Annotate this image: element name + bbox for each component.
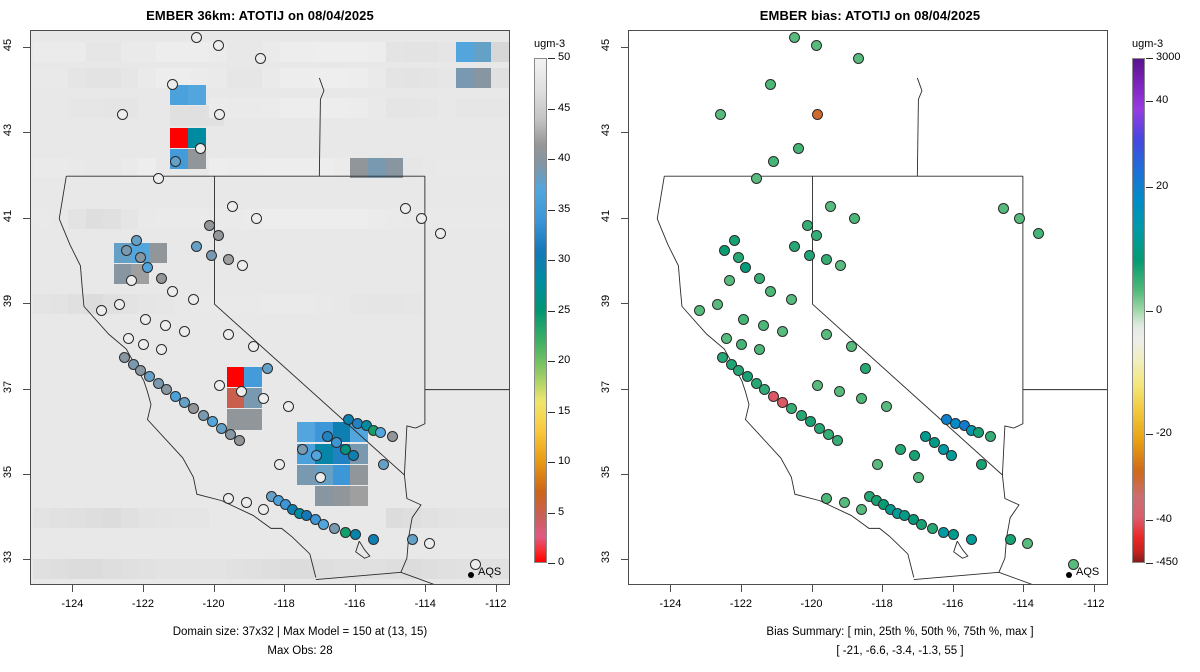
observation-point	[153, 173, 164, 184]
x-axis-tick	[953, 585, 954, 592]
observation-point	[123, 333, 134, 344]
figure-canvas: EMBER 36km: ATOTIJ on 08/04/2025 AQS 333…	[0, 0, 1200, 672]
colorbar-unit-bias: ugm-3	[1132, 38, 1163, 50]
colorbar-tick	[548, 109, 555, 110]
bias-point	[938, 527, 949, 538]
observation-point	[140, 314, 151, 325]
colorbar-tick-label: 3000	[1156, 51, 1180, 63]
bias-point	[812, 109, 823, 120]
x-axis-tick	[425, 585, 426, 592]
colorbar-tick	[1146, 187, 1153, 188]
colorbar-tick	[548, 311, 555, 312]
colorbar-tick-label: 15	[558, 405, 570, 417]
observation-point	[156, 344, 167, 355]
x-axis-tick	[1094, 585, 1095, 592]
x-axis-tick-label: -114	[1003, 598, 1043, 610]
x-axis-tick-label: -112	[1074, 598, 1114, 610]
y-axis-tick	[621, 303, 628, 304]
observation-point	[160, 320, 171, 331]
x-axis-tick	[496, 585, 497, 592]
y-axis-tick-label: 39	[600, 288, 612, 314]
y-axis-tick-label: 45	[600, 32, 612, 58]
state-border-ca-az	[401, 475, 421, 572]
observation-point	[400, 203, 411, 214]
observation-point	[214, 109, 225, 120]
bias-point	[758, 320, 769, 331]
observation-point	[236, 386, 247, 397]
x-axis-tick-label: -118	[264, 598, 304, 610]
x-axis-tick-label: -122	[721, 598, 761, 610]
colorbar-tick	[548, 462, 555, 463]
observation-point	[195, 143, 206, 154]
observation-point	[206, 250, 217, 261]
observation-point	[223, 254, 234, 265]
bias-point	[860, 363, 871, 374]
colorbar-tick	[1146, 58, 1153, 59]
observation-point	[117, 109, 128, 120]
bias-point	[733, 252, 744, 263]
x-axis-tick-label: -124	[650, 598, 690, 610]
panel-model-title: EMBER 36km: ATOTIJ on 08/04/2025	[0, 8, 520, 23]
x-axis-tick	[72, 585, 73, 592]
caption-bias-line2: [ -21, -6.6, -3.4, -1.3, 55 ]	[600, 645, 1200, 657]
bias-point	[804, 250, 815, 261]
colorbar-tick-label: 0	[1156, 304, 1162, 316]
colorbar-tick-label: 50	[558, 51, 570, 63]
observation-point	[262, 363, 273, 374]
bias-point	[821, 329, 832, 340]
observation-point	[315, 472, 326, 483]
panel-bias-title: EMBER bias: ATOTIJ on 08/04/2025	[610, 8, 1130, 23]
colorbar-tick-label: 20	[558, 354, 570, 366]
colorbar-tick-label: -40	[1156, 513, 1172, 525]
y-axis-tick	[621, 474, 628, 475]
colorbar-tick-label: 30	[558, 253, 570, 265]
coastline	[59, 176, 316, 577]
observation-point	[170, 156, 181, 167]
observation-point	[416, 213, 427, 224]
aqs-legend-marker-icon	[468, 572, 474, 578]
coastline	[657, 176, 914, 577]
bias-point	[973, 427, 984, 438]
state-border-or-id	[917, 78, 922, 176]
colorbar-tick-label: 10	[558, 455, 570, 467]
y-axis-tick	[621, 132, 628, 133]
x-axis-tick	[143, 585, 144, 592]
y-axis-tick-label: 43	[2, 117, 14, 143]
y-axis-tick-label: 35	[600, 459, 612, 485]
colorbar-tick-label: 25	[558, 304, 570, 316]
colorbar-gradient-model	[534, 58, 547, 563]
bias-point	[998, 203, 1009, 214]
colorbar-tick	[1146, 101, 1153, 102]
observation-point	[318, 519, 329, 530]
x-axis-tick	[214, 585, 215, 592]
y-axis-tick	[23, 303, 30, 304]
observation-point	[167, 286, 178, 297]
bias-point	[834, 386, 845, 397]
salton-sea	[356, 541, 370, 558]
colorbar-tick-label: 45	[558, 102, 570, 114]
y-axis-tick	[621, 47, 628, 48]
colorbar-tick	[548, 58, 555, 59]
colorbar-tick	[548, 412, 555, 413]
x-axis-tick-label: -114	[405, 598, 445, 610]
y-axis-tick-label: 45	[2, 32, 14, 58]
bias-point	[712, 299, 723, 310]
colorbar-tick-label: -20	[1156, 427, 1172, 439]
colorbar-tick	[548, 563, 555, 564]
observation-point	[227, 201, 238, 212]
observation-point	[213, 40, 224, 51]
observation-point	[407, 534, 418, 545]
state-border-nv-az	[416, 390, 425, 428]
colorbar-tick	[1146, 563, 1153, 564]
colorbar-tick-label: 0	[558, 556, 564, 568]
state-border-ca-az	[999, 475, 1019, 572]
observation-point	[368, 534, 379, 545]
bias-point	[721, 333, 732, 344]
y-axis-tick	[23, 47, 30, 48]
y-axis-tick-label: 37	[600, 374, 612, 400]
y-axis-tick-label: 35	[2, 459, 14, 485]
x-axis-tick-label: -120	[792, 598, 832, 610]
state-border-or-id	[319, 78, 324, 176]
y-axis-tick	[621, 389, 628, 390]
colorbar-unit-model: ugm-3	[534, 38, 565, 50]
x-axis-tick-label: -122	[123, 598, 163, 610]
bias-point	[825, 201, 836, 212]
y-axis-tick	[621, 218, 628, 219]
y-axis-tick-label: 43	[600, 117, 612, 143]
bias-point	[802, 220, 813, 231]
y-axis-tick	[621, 559, 628, 560]
colorbar-tick	[1146, 311, 1153, 312]
colorbar-tick	[548, 260, 555, 261]
panel-bias: EMBER bias: ATOTIJ on 08/04/2025 AQS 333…	[600, 0, 1200, 672]
bias-point	[751, 173, 762, 184]
x-axis-tick	[1023, 585, 1024, 592]
colorbar-tick-label: 40	[558, 152, 570, 164]
bias-point	[821, 254, 832, 265]
x-axis-tick	[882, 585, 883, 592]
observation-point	[241, 497, 252, 508]
y-axis-tick	[23, 132, 30, 133]
colorbar-tick	[548, 210, 555, 211]
colorbar-tick	[1146, 434, 1153, 435]
bias-point	[811, 40, 822, 51]
y-axis-tick-label: 39	[2, 288, 14, 314]
bias-point	[839, 497, 850, 508]
observation-point	[167, 79, 178, 90]
caption-model-line2: Max Obs: 28	[0, 645, 600, 657]
observation-point	[213, 230, 224, 241]
colorbar-tick-label: -450	[1156, 556, 1178, 568]
colorbar-tick-label: 20	[1156, 180, 1168, 192]
map-plot-model[interactable]: AQS	[30, 30, 510, 585]
colorbar-tick	[548, 159, 555, 160]
state-border-nv-az	[1014, 390, 1023, 428]
observation-point	[204, 220, 215, 231]
x-axis-tick-label: -120	[194, 598, 234, 610]
colorado-river	[1002, 426, 1013, 475]
caption-bias-line1: Bias Summary: [ min, 25th %, 50th %, 75t…	[600, 626, 1200, 638]
y-axis-tick	[23, 474, 30, 475]
bias-point	[738, 314, 749, 325]
colorbar-tick-label: 40	[1156, 94, 1168, 106]
bias-point	[1014, 213, 1025, 224]
observation-point	[340, 527, 351, 538]
colorbar-tick	[1146, 520, 1153, 521]
bias-point	[715, 109, 726, 120]
y-axis-tick	[23, 218, 30, 219]
observation-point	[135, 252, 146, 263]
observation-point	[375, 427, 386, 438]
colorbar-tick-label: 35	[558, 203, 570, 215]
x-axis-tick	[355, 585, 356, 592]
bias-point	[1005, 534, 1016, 545]
x-axis-tick	[670, 585, 671, 592]
x-axis-tick	[812, 585, 813, 592]
y-axis-tick	[23, 559, 30, 560]
y-axis-tick-label: 37	[2, 374, 14, 400]
bias-point	[966, 534, 977, 545]
bias-point	[811, 230, 822, 241]
colorbar-tick	[548, 361, 555, 362]
bias-point	[916, 519, 927, 530]
x-axis-tick-label: -116	[933, 598, 973, 610]
aqs-legend-label: AQS	[1076, 566, 1099, 578]
colorbar-tick	[548, 513, 555, 514]
x-axis-tick	[741, 585, 742, 592]
salton-sea	[954, 541, 968, 558]
bias-point	[927, 523, 938, 534]
caption-model-line1: Domain size: 37x32 | Max Model = 150 at …	[0, 626, 600, 638]
panel-model: EMBER 36km: ATOTIJ on 08/04/2025 AQS 333…	[0, 0, 600, 672]
colorbar-tick-label: 5	[558, 506, 564, 518]
y-axis-tick-label: 33	[2, 544, 14, 570]
bias-point	[765, 286, 776, 297]
observation-point	[114, 299, 125, 310]
observation-point	[223, 329, 234, 340]
bias-point	[793, 143, 804, 154]
x-axis-tick	[284, 585, 285, 592]
bias-point	[913, 472, 924, 483]
x-axis-tick-label: -112	[476, 598, 516, 610]
bias-point	[754, 344, 765, 355]
x-axis-tick-label: -118	[862, 598, 902, 610]
x-axis-tick-label: -116	[335, 598, 375, 610]
y-axis-tick-label: 33	[600, 544, 612, 570]
colorado-river	[404, 426, 415, 475]
bias-point	[768, 156, 779, 167]
observation-point	[329, 523, 340, 534]
aqs-legend-marker-icon	[1066, 572, 1072, 578]
colorbar-gradient-bias	[1132, 58, 1145, 563]
bias-point	[765, 79, 776, 90]
y-axis-tick-label: 41	[2, 203, 14, 229]
y-axis-tick	[23, 389, 30, 390]
y-axis-tick-label: 41	[600, 203, 612, 229]
x-axis-tick-label: -124	[52, 598, 92, 610]
aqs-legend-label: AQS	[478, 566, 501, 578]
map-plot-bias[interactable]: AQS	[628, 30, 1108, 585]
